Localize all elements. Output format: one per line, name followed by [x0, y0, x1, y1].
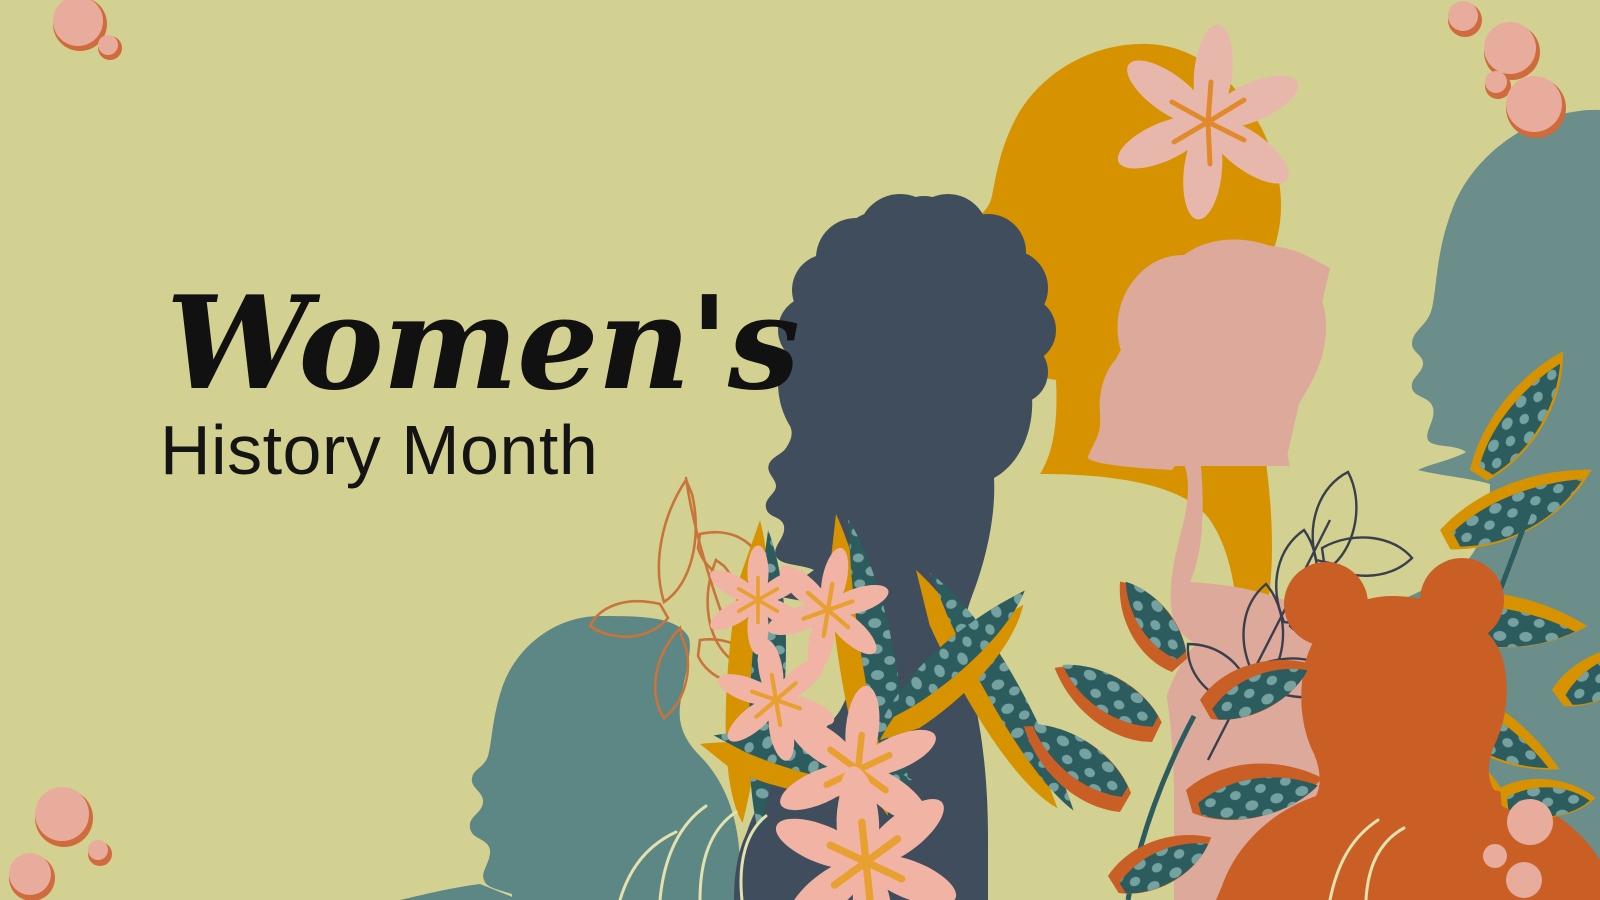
- space-bun-right: [1420, 558, 1504, 642]
- womens-history-month-poster: Women's History Month: [0, 0, 1600, 900]
- space-bun-left: [1284, 562, 1368, 646]
- poster-artwork: [0, 0, 1600, 900]
